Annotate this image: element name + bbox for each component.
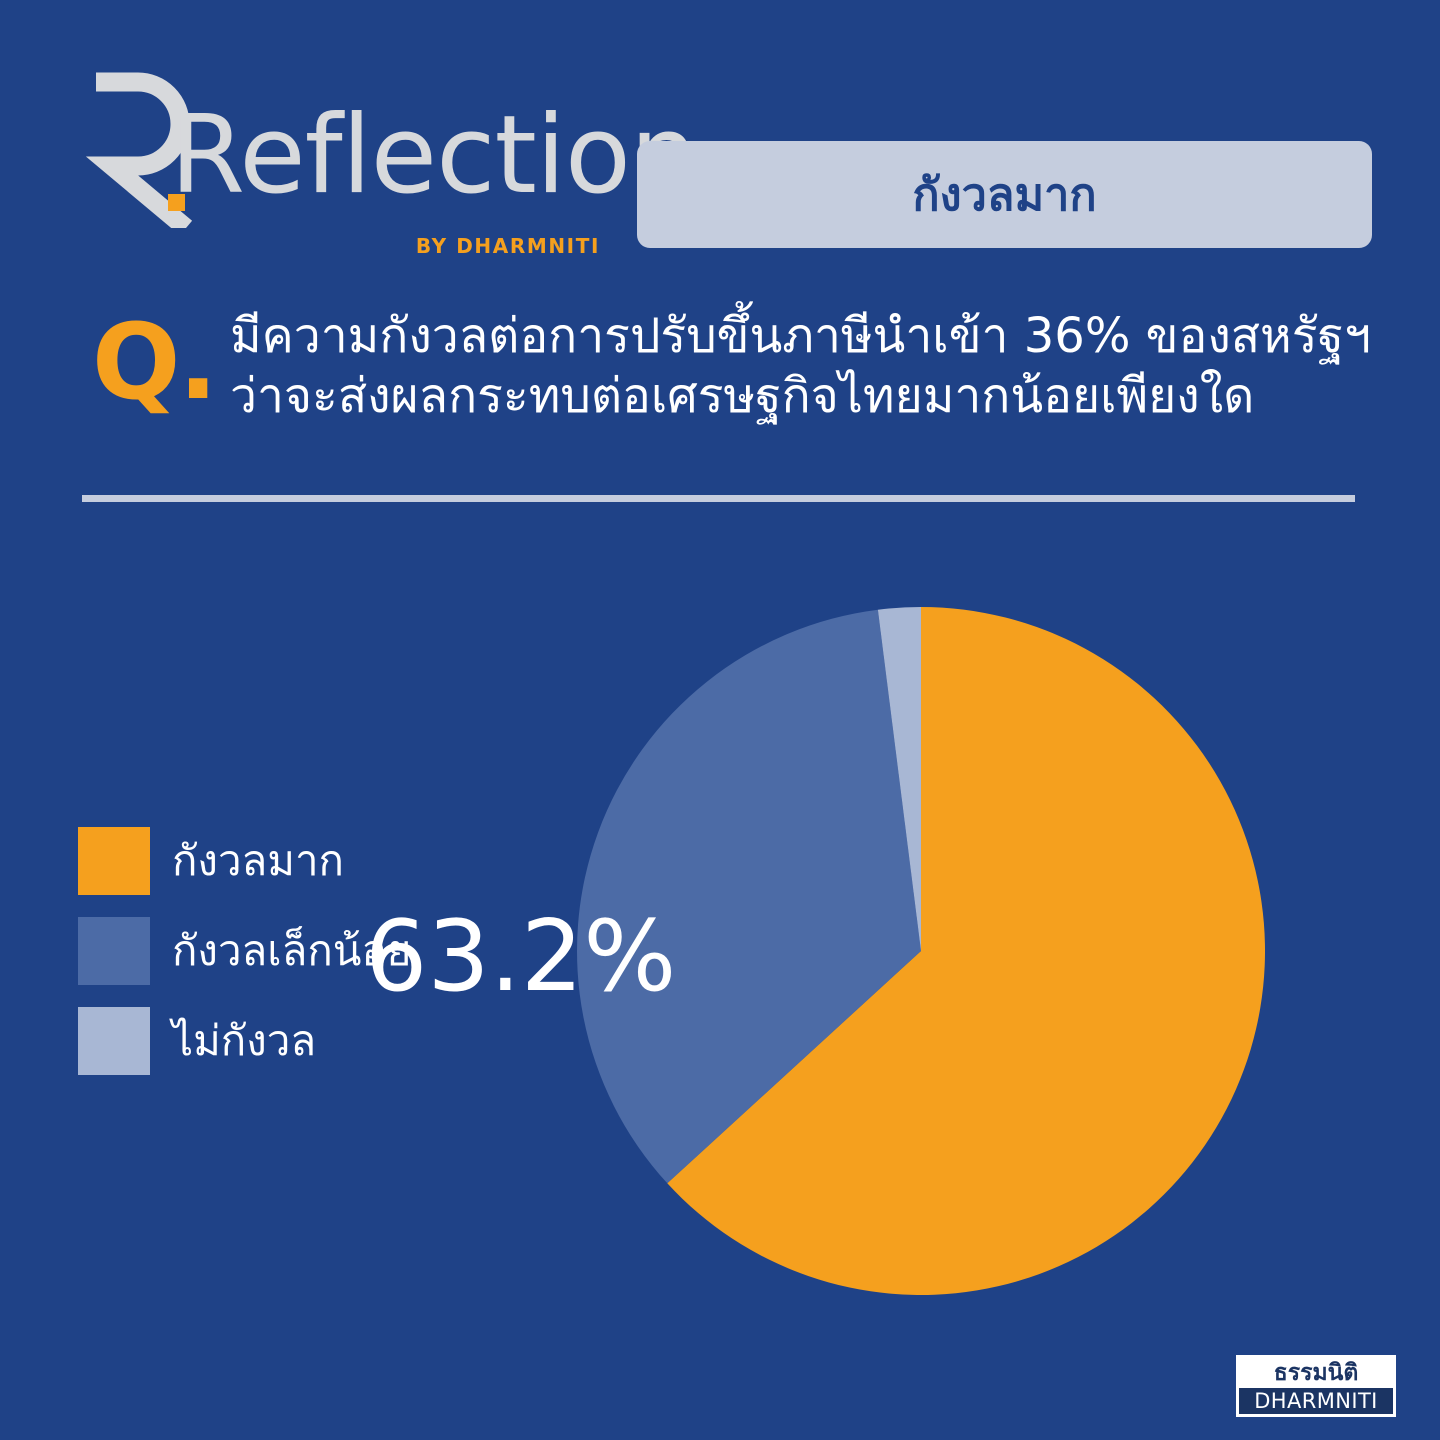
logo-text: Reflection <box>170 102 697 210</box>
watermark-latin-text: DHARMNITI <box>1239 1388 1393 1414</box>
legend-item: กังวลมาก <box>78 822 508 900</box>
pie-chart-svg <box>577 607 1265 1295</box>
logo-byline: BY DHARMNITI <box>416 234 600 258</box>
legend-swatch-icon <box>78 1007 150 1075</box>
pie-chart <box>577 607 1265 1295</box>
question-marker: Q. <box>92 310 216 414</box>
header-badge: กังวลมาก <box>637 141 1372 248</box>
infographic-canvas: Reflection BY DHARMNITI กังวลมาก Q. มีคว… <box>0 0 1440 1440</box>
logo-wordmark: Reflection <box>82 68 612 233</box>
question-text: มีความกังวลต่อการปรับขึ้นภาษีนำเข้า 36% … <box>230 306 1380 427</box>
watermark-thai-text: ธรรมนิติ <box>1239 1358 1393 1388</box>
legend-item-label: ไม่กังวล <box>172 1020 316 1062</box>
section-divider <box>82 495 1355 502</box>
legend-swatch-icon <box>78 917 150 985</box>
question-line-2: ว่าจะส่งผลกระทบต่อเศรษฐกิจไทยมากน้อยเพีย… <box>230 366 1380 426</box>
reflection-logo: Reflection BY DHARMNITI <box>82 68 612 268</box>
header-badge-label: กังวลมาก <box>912 172 1096 217</box>
question-line-1: มีความกังวลต่อการปรับขึ้นภาษีนำเข้า 36% … <box>230 306 1380 366</box>
pie-slice-value-label: 63.2% <box>365 908 676 1006</box>
dharmniti-watermark: ธรรมนิติ DHARMNITI <box>1236 1355 1396 1417</box>
question-block: Q. มีความกังวลต่อการปรับขึ้นภาษีนำเข้า 3… <box>92 306 1382 456</box>
legend-item-label: กังวลมาก <box>172 840 344 882</box>
legend-swatch-icon <box>78 827 150 895</box>
